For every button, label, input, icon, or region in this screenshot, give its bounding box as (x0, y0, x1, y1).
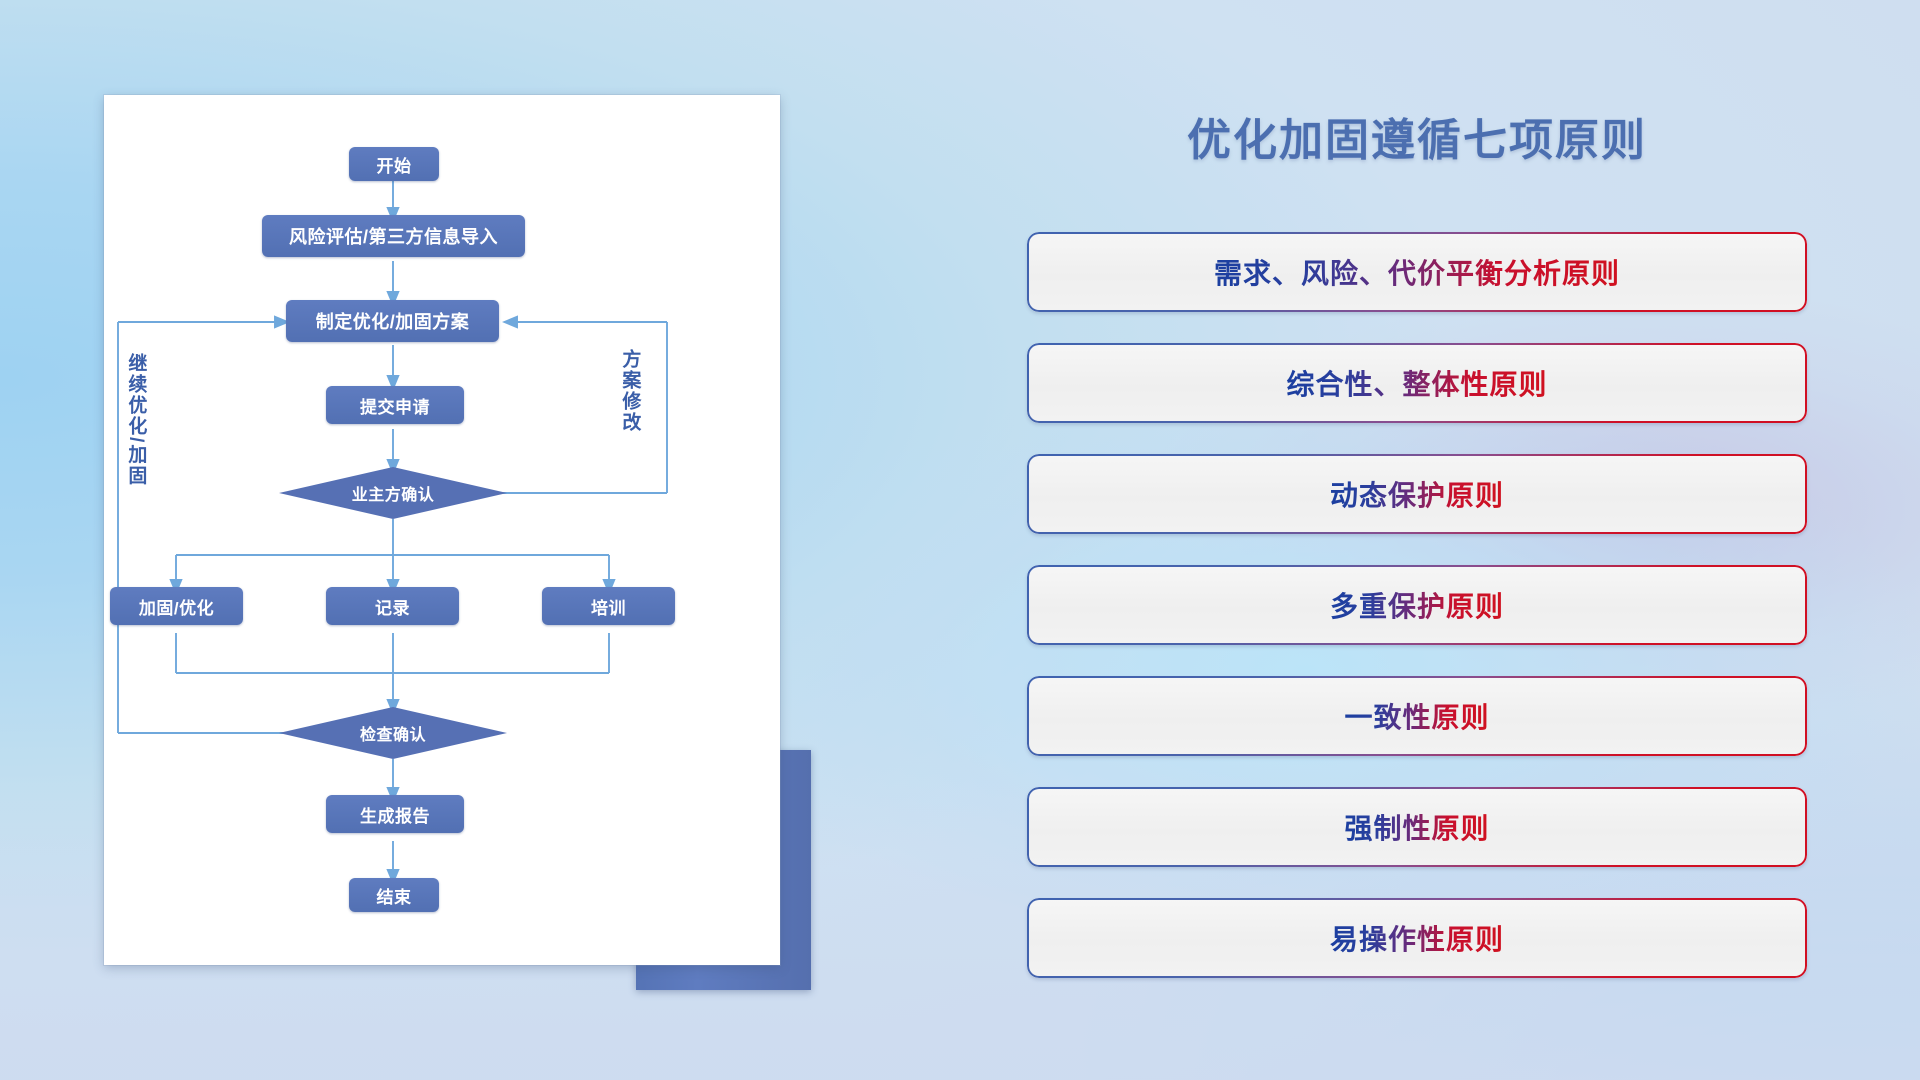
flowchart-card: 开始 风险评估/第三方信息导入 制定优化/加固方案 提交申请 业主方确认 加固/… (104, 95, 780, 965)
principle-item[interactable]: 强制性原则 (1027, 787, 1807, 867)
flow-node-plan[interactable]: 制定优化/加固方案 (286, 300, 499, 342)
flow-node-start[interactable]: 开始 (349, 147, 439, 181)
principle-item[interactable]: 动态保护原则 (1027, 454, 1807, 534)
principle-label: 易操作性原则 (1330, 918, 1504, 958)
flow-node-check-confirm-label: 检查确认 (279, 707, 507, 759)
flow-node-owner-confirm-label: 业主方确认 (279, 467, 507, 519)
principle-item[interactable]: 多重保护原则 (1027, 565, 1807, 645)
principle-item[interactable]: 一致性原则 (1027, 676, 1807, 756)
flow-node-record[interactable]: 记录 (326, 587, 459, 625)
principle-label: 强制性原则 (1344, 807, 1489, 847)
flow-node-risk-assessment[interactable]: 风险评估/第三方信息导入 (262, 215, 525, 257)
principle-label: 动态保护原则 (1330, 474, 1504, 514)
flow-node-training[interactable]: 培训 (542, 587, 675, 625)
flow-node-check-confirm[interactable]: 检查确认 (279, 707, 507, 759)
principle-item[interactable]: 易操作性原则 (1027, 898, 1807, 978)
principle-item[interactable]: 需求、风险、代价平衡分析原则 (1027, 232, 1807, 312)
principle-item[interactable]: 综合性、整体性原则 (1027, 343, 1807, 423)
edge-label-continue-optimize: 继续优化/加固 (126, 353, 145, 486)
principle-label: 多重保护原则 (1330, 585, 1504, 625)
flow-node-owner-confirm[interactable]: 业主方确认 (279, 467, 507, 519)
flow-node-submit-application[interactable]: 提交申请 (326, 386, 464, 424)
flow-node-reinforce-optimize[interactable]: 加固/优化 (110, 587, 243, 625)
principles-list: 需求、风险、代价平衡分析原则 综合性、整体性原则 动态保护原则 多重保护原则 一… (1027, 232, 1807, 1009)
flow-node-end[interactable]: 结束 (349, 878, 439, 912)
principle-label: 综合性、整体性原则 (1286, 363, 1547, 403)
principle-label: 一致性原则 (1344, 696, 1489, 736)
flow-node-generate-report[interactable]: 生成报告 (326, 795, 464, 833)
principle-label: 需求、风险、代价平衡分析原则 (1214, 252, 1620, 292)
page-title: 优化加固遵循七项原则 (1027, 104, 1807, 168)
edge-label-plan-revision: 方案修改 (620, 349, 639, 433)
